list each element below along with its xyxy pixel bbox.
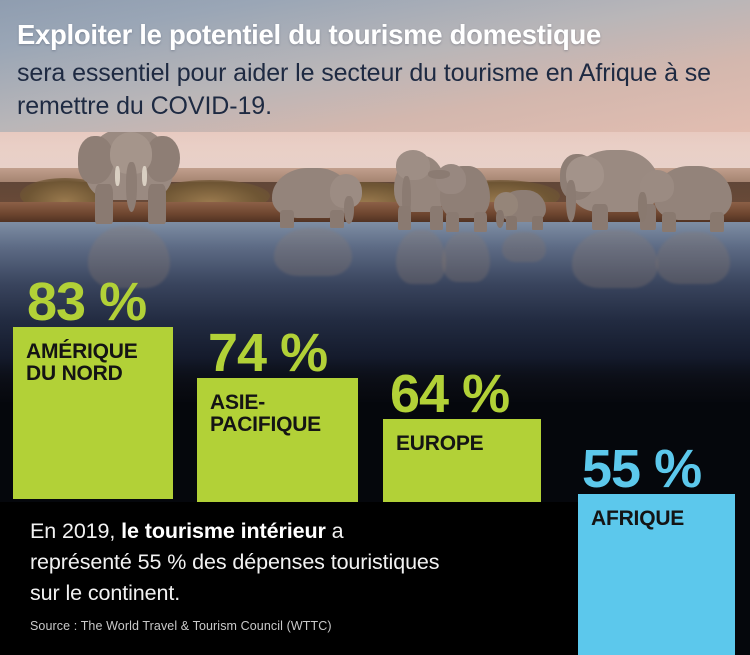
bar-category-line: AFRIQUE [591,508,684,530]
bar-category-line: AMÉRIQUE [26,341,138,363]
bar-category-label: EUROPE [396,433,484,455]
caption-pre: En 2019, [30,519,121,543]
infographic-root: Exploiter le potentiel du tourisme domes… [0,0,750,655]
bar-value-label: 74 % [208,326,327,380]
page-subtitle: sera essentiel pour aider le secteur du … [17,57,733,123]
bar-category-label: AMÉRIQUE DU NORD [26,341,138,384]
bar-value-label: 64 % [390,367,509,421]
header-banner: Exploiter le potentiel du tourisme domes… [0,0,750,132]
caption-highlight: le tourisme intérieur [121,519,326,543]
bar-category-label: ASIE- PACIFIQUE [210,392,321,435]
bar-category-line: EUROPE [396,433,484,455]
caption-panel: En 2019, le tourisme intérieur a représe… [0,502,578,655]
bar-category-label: AFRIQUE [591,508,684,530]
source-note: Source : The World Travel & Tourism Coun… [30,619,332,633]
bar-category-line: ASIE- [210,392,321,414]
page-title: Exploiter le potentiel du tourisme domes… [17,19,601,51]
bar-category-line: DU NORD [26,363,138,385]
caption-text: En 2019, le tourisme intérieur a représe… [30,516,450,609]
bar-afrique: 55 % AFRIQUE [578,494,735,655]
bar-value-label: 55 % [582,442,701,496]
bar-category-line: PACIFIQUE [210,414,321,436]
bar-amerique-du-nord: 83 % AMÉRIQUE DU NORD [13,327,173,499]
bar-value-label: 83 % [27,275,146,329]
